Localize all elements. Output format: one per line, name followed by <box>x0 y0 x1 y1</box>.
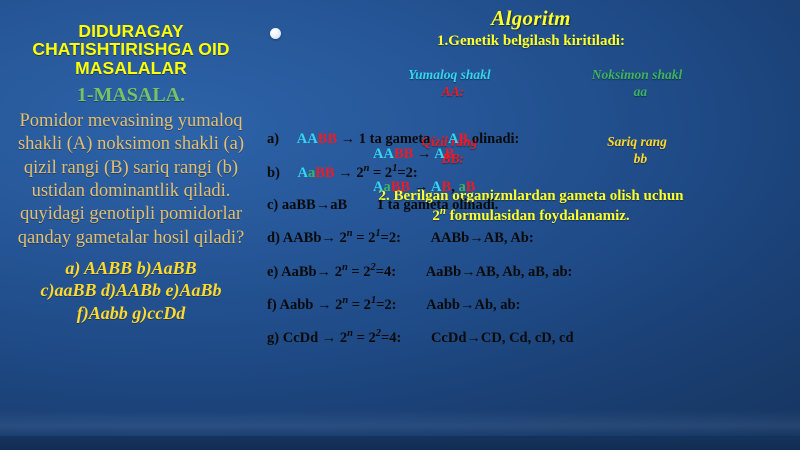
item-a-arrow: → <box>341 131 356 147</box>
item-d-label: d) <box>267 230 280 246</box>
item-g-main: g) CcDd → 2n = 22=4: CcDd→CD, Cd, cD, cd <box>267 329 800 345</box>
bullet-dot-icon <box>270 28 281 39</box>
legend-left-symbol-1: AA: <box>442 84 465 99</box>
item-g-answer: CcDd→CD, Cd, cD, cd <box>431 330 574 346</box>
item-e: e) AaBb→ 2n = 22=4: AaBb→AB, Ab, aB, ab: <box>267 263 800 279</box>
item-f-result: =2: <box>376 297 396 313</box>
item-b-sub-allele-A: A <box>373 179 383 195</box>
item-b-sub-allele-BB: BB <box>391 179 410 195</box>
item-b-sub-gamete1-A: A <box>431 179 441 195</box>
item-e-answer: AaBb→AB, Ab, aB, ab: <box>426 263 573 279</box>
option-line-2: c)aaBB d)AABb e)AaBb <box>2 279 260 301</box>
item-b-sub-allele-a: a <box>383 179 390 195</box>
item-a-suffix: olinadi: <box>472 131 520 147</box>
answer-options: a) AABB b)AaBB c)aaBB d)AABb e)AaBb f)Aa… <box>0 257 262 324</box>
item-b: b) AaBB → 2n = 21=2: AaBB → AB, aB <box>267 164 800 195</box>
problem-heading: 1-MASALA. <box>0 84 262 107</box>
item-f: f) Aabb → 2n = 21=2: Aabb→Ab, ab: <box>267 296 800 312</box>
item-a-sub-dominant: AA <box>373 146 394 162</box>
legend-right-text-1: Noksimon shakl <box>592 67 682 82</box>
legend-row-dominant: Yumaloq shakl AA: Noksimon shakl aa <box>262 50 800 118</box>
item-g-label: g) <box>267 330 279 346</box>
item-a-main: a) AABB → 1 ta gameta AB olinadi: <box>267 132 800 147</box>
item-f-main: f) Aabb → 2n = 21=2: Aabb→Ab, ab: <box>267 296 800 312</box>
item-b-sub-gamete2-B: B <box>466 179 476 195</box>
item-e-main: e) AaBb→ 2n = 22=4: AaBb→AB, Ab, aB, ab: <box>267 263 800 279</box>
item-c-text: aaBB→aB <box>282 197 347 213</box>
item-a-sub-gamete-b: B <box>445 146 455 162</box>
item-b-sub-arrow: → <box>414 179 429 195</box>
item-a-label: a) <box>267 131 279 147</box>
legend-right-symbol-1: aa <box>634 84 648 99</box>
item-d-answer: AABb→AB, Ab: <box>431 230 534 246</box>
item-b-arrow: → <box>338 165 353 181</box>
item-c-tail: 1 ta gameta olinadi. <box>377 197 499 213</box>
item-a-genotype-dominant: AA <box>297 131 318 147</box>
algorithm-heading: Algoritm <box>262 0 800 31</box>
item-b-sub-gamete1-B: B <box>442 179 452 195</box>
item-d-eq: = 2 <box>353 230 376 246</box>
item-d-genotype: AABb→ <box>283 230 336 246</box>
item-a-genotype-color: BB <box>318 131 337 147</box>
item-e-genotype: AaBb→ <box>281 263 331 279</box>
item-f-label: f) <box>267 297 277 313</box>
item-a-gamete-b: B <box>459 131 469 147</box>
item-f-answer: Aabb→Ab, ab: <box>426 297 520 313</box>
item-a-sub-arrow: → <box>417 146 432 162</box>
legend-left-text-1: Yumaloq shakl <box>408 67 490 82</box>
algorithm-step-1: 1.Genetik belgilash kiritiladi: <box>262 32 800 50</box>
item-e-fbase: 2 <box>335 263 342 279</box>
item-g-result: =4: <box>381 330 401 346</box>
item-d: d) AABb→ 2n = 21=2: AABb→AB, Ab: <box>267 229 800 245</box>
item-c: c) aaBB→aB 1 ta gameta olinadi. <box>267 198 800 213</box>
item-e-result: =4: <box>376 263 396 279</box>
item-g-eq: = 2 <box>353 330 376 346</box>
item-c-label: c) <box>267 197 278 213</box>
item-a-sub-color: BB <box>394 146 413 162</box>
item-a-sub: AABB → AB <box>267 147 800 162</box>
item-d-main: d) AABb→ 2n = 21=2: AABb→AB, Ab: <box>267 229 800 245</box>
legend-left-1: Yumaloq shakl AA: <box>344 50 529 118</box>
item-b-label: b) <box>267 165 280 181</box>
item-b-sub-gamete2-a: a <box>458 179 465 195</box>
item-a-sub-gamete-a: A <box>434 146 444 162</box>
option-line-3: f)Aabb g)ccDd <box>2 302 260 324</box>
item-b-fbase: 2 <box>356 165 363 181</box>
item-b-sub: AaBB → AB, aB <box>267 180 800 195</box>
item-g-genotype: CcDd → <box>283 330 337 346</box>
item-f-genotype: Aabb → <box>280 297 332 313</box>
option-line-1: a) AABB b)AaBB <box>2 257 260 279</box>
slide-canvas: DIDURAGAY CHATISHTIRISHGA OID MASALALAR … <box>0 0 800 450</box>
gamete-item-list: a) AABB → 1 ta gameta AB olinadi: AABB →… <box>267 132 800 346</box>
legend-right-1: Noksimon shakl aa <box>529 50 719 118</box>
item-d-result: =2: <box>381 230 401 246</box>
left-panel: DIDURAGAY CHATISHTIRISHGA OID MASALALAR … <box>0 22 262 324</box>
right-panel: Algoritm 1.Genetik belgilash kiritiladi:… <box>262 0 800 450</box>
problem-text: Pomidor mevasining yumaloq shakli (A) no… <box>0 110 262 250</box>
item-e-label: e) <box>267 263 278 279</box>
item-f-eq: = 2 <box>348 297 371 313</box>
deck-title: DIDURAGAY CHATISHTIRISHGA OID MASALALAR <box>0 22 262 77</box>
item-b-allele-A: A <box>298 165 308 181</box>
item-d-fbase: 2 <box>340 230 347 246</box>
item-a: a) AABB → 1 ta gameta AB olinadi: AABB →… <box>267 132 800 161</box>
item-b-main: b) AaBB → 2n = 21=2: <box>267 164 800 180</box>
item-c-main: c) aaBB→aB 1 ta gameta olinadi. <box>267 198 800 213</box>
item-e-eq: = 2 <box>348 263 371 279</box>
item-g: g) CcDd → 2n = 22=4: CcDd→CD, Cd, cD, cd <box>267 329 800 345</box>
item-b-allele-BB: BB <box>315 165 334 181</box>
